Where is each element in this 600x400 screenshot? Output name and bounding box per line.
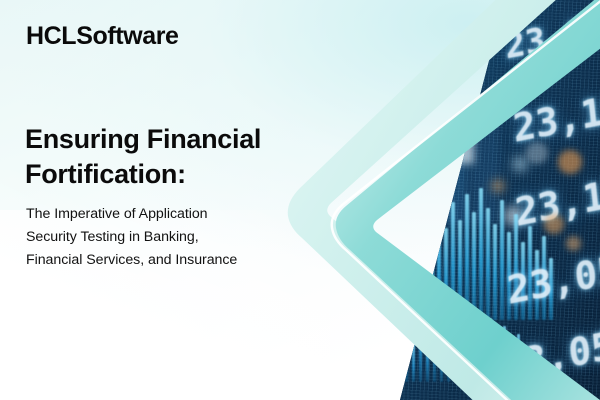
promo-banner: 23,160 23,150 23,100 23,050 23,050 (0, 0, 600, 400)
chevron-graphic (0, 0, 600, 400)
subhead-line-3: Financial Services, and Insurance (26, 249, 301, 272)
page-subtitle: The Imperative of Application Security T… (26, 203, 301, 272)
logo-software-text: Software (76, 22, 178, 50)
headline-line-1: Ensuring Financial (25, 122, 325, 157)
subhead-line-1: The Imperative of Application (26, 203, 301, 226)
logo-hcl-text: HCL (26, 22, 76, 50)
headline-line-2: Fortification: (25, 157, 325, 192)
hcl-software-logo: HCLSoftware (26, 24, 179, 49)
page-title: Ensuring Financial Fortification: (25, 122, 325, 192)
subhead-line-2: Security Testing in Banking, (26, 226, 301, 249)
